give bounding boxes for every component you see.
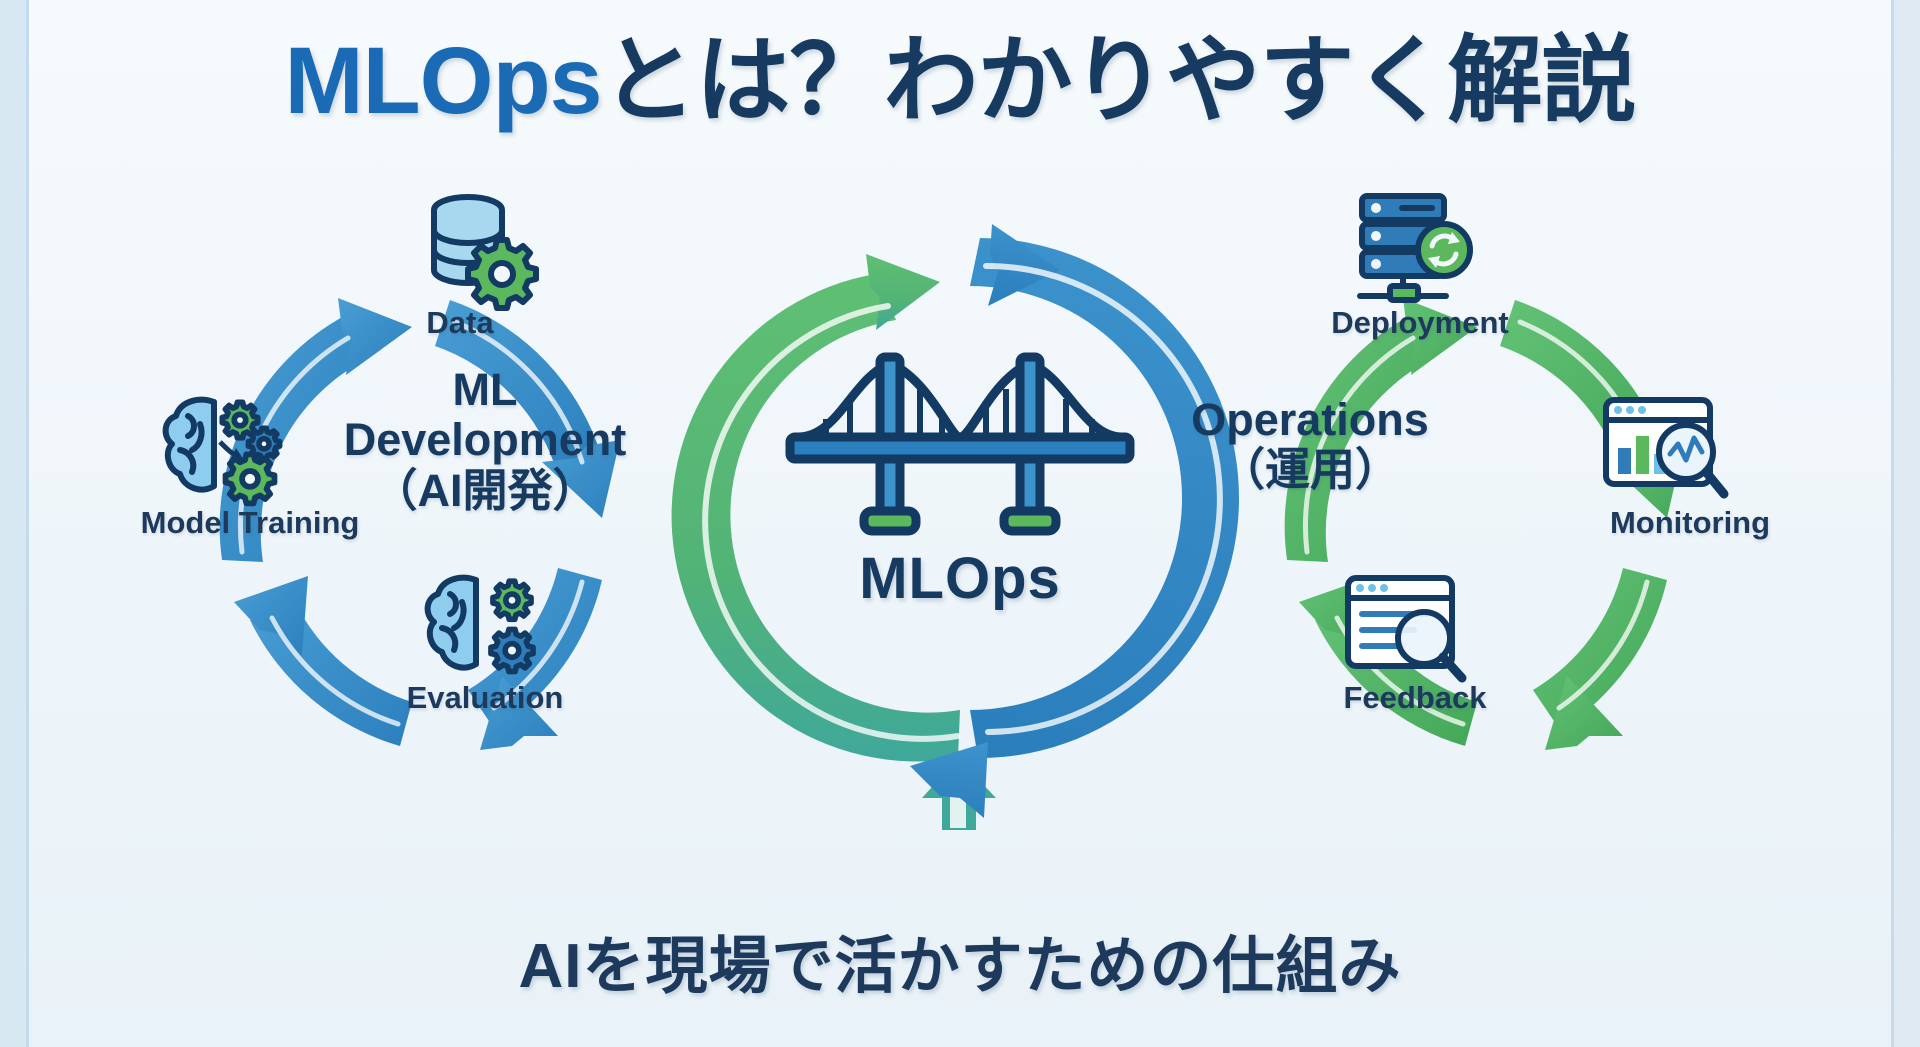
server-sync-icon (1348, 188, 1476, 306)
brain-gears-icon (158, 390, 288, 508)
bridge-icon (790, 345, 1130, 545)
title-brand: MLOps (285, 28, 602, 134)
right-cycle-line1: Operations (1130, 395, 1490, 445)
page-subtitle: AIを現場で活かすための仕組み (0, 915, 1920, 1005)
node-label-monitoring: Monitoring (1545, 505, 1835, 541)
page-title: MLOpsとは？わかりやすく解説 (0, 34, 1920, 129)
dashboard-magnifier-icon (1600, 390, 1730, 508)
diagram-stage: MLOps ML Development （AI開発） Operations （… (0, 150, 1920, 920)
title-rest: とは？わかりやすく解説 (601, 28, 1635, 134)
slide-canvas: MLOpsとは？わかりやすく解説 (0, 0, 1920, 1047)
node-label-model-training: Model Training (100, 505, 400, 541)
left-cycle-line1: ML (310, 365, 660, 415)
center-mlops-label: MLOps (760, 545, 1160, 612)
node-label-feedback: Feedback (1285, 680, 1545, 716)
right-cycle-line2: （運用） (1130, 445, 1490, 495)
document-magnifier-icon (1342, 568, 1472, 686)
node-label-data: Data (340, 305, 580, 341)
database-gear-icon (418, 188, 536, 306)
left-cycle-center-label: ML Development （AI開発） (310, 365, 660, 516)
left-cycle-line2: Development (310, 415, 660, 465)
node-label-deployment: Deployment (1290, 305, 1550, 341)
brain-gears-icon (420, 568, 550, 686)
node-label-evaluation: Evaluation (355, 680, 615, 716)
right-cycle-center-label: Operations （運用） (1130, 395, 1490, 496)
